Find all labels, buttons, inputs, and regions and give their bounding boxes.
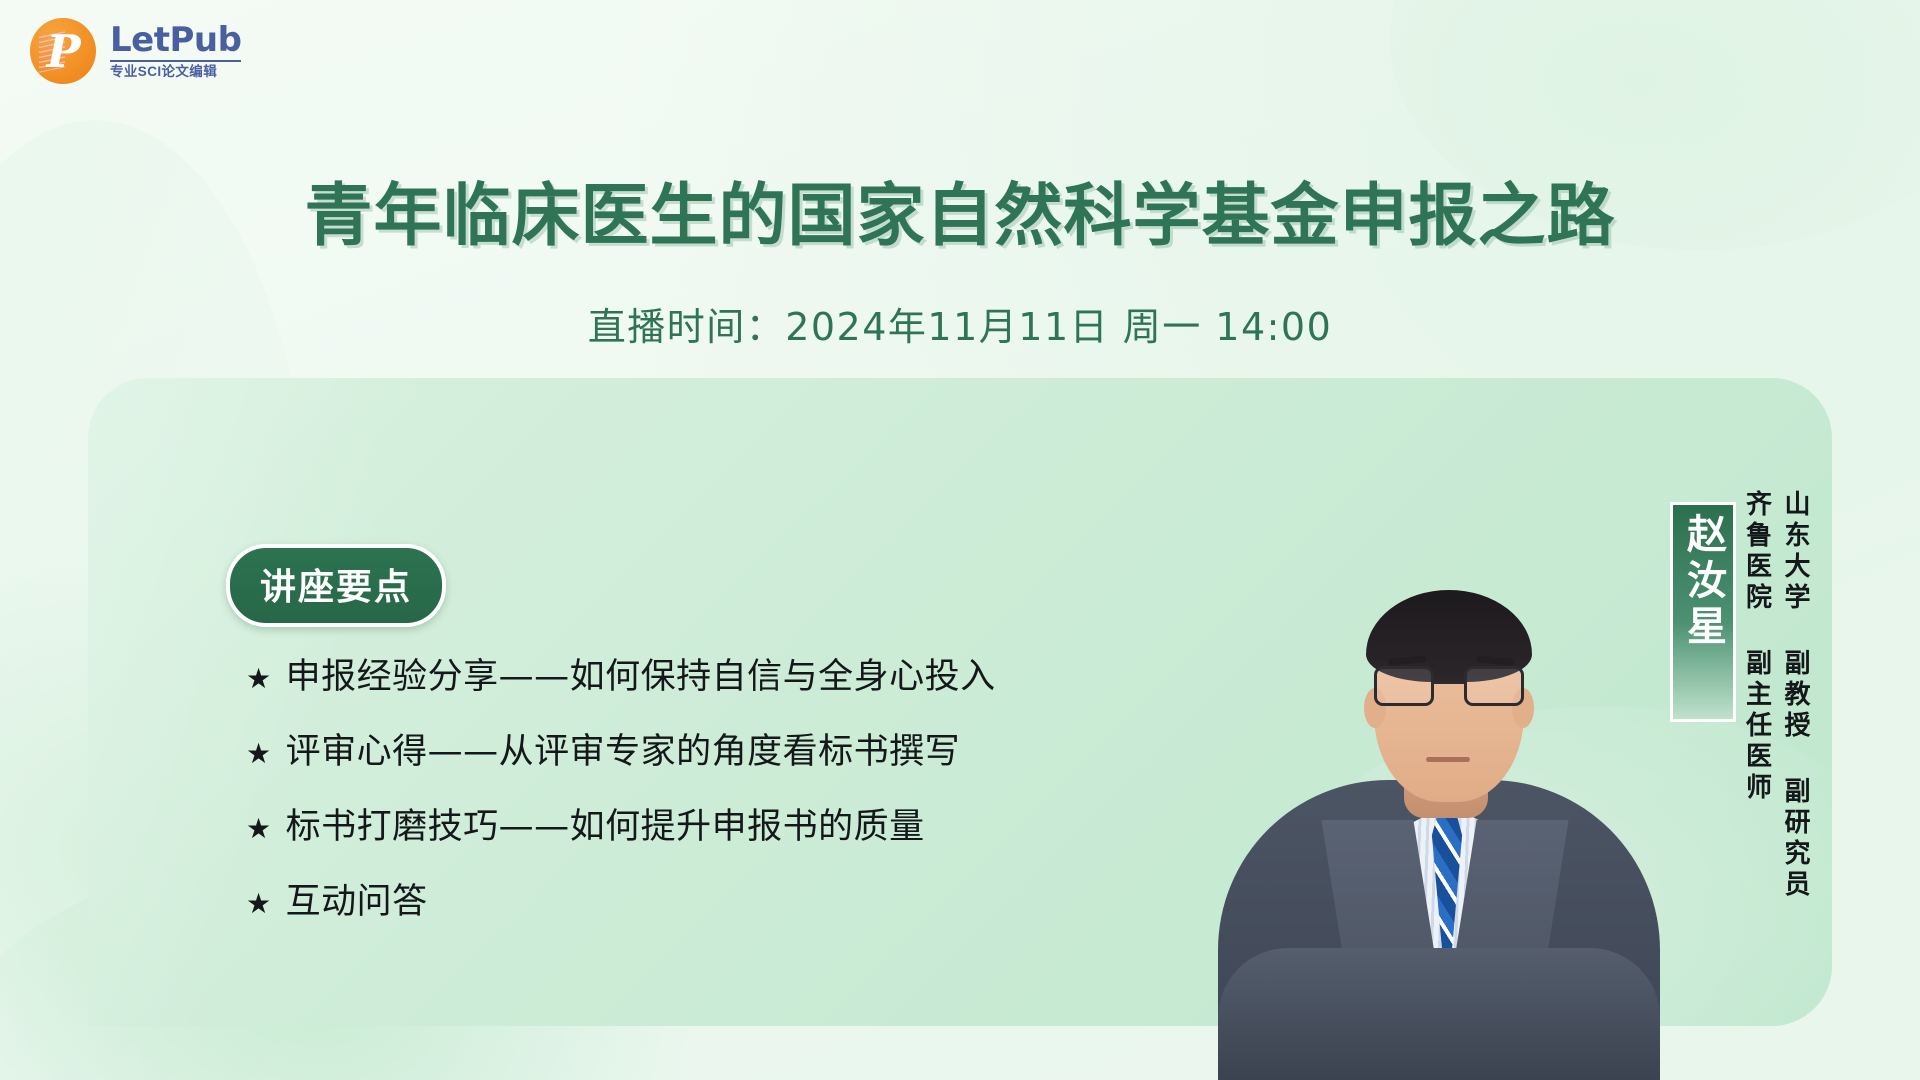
list-item: ★ 互动问答 [246, 873, 996, 924]
broadcast-time: 直播时间：2024年11月11日 周一 14:00 [0, 296, 1920, 351]
letpub-logo-mark-icon: P [30, 18, 96, 84]
key-points-badge: 讲座要点 [226, 544, 446, 627]
portrait-mouth [1426, 757, 1470, 762]
eyeglass-lens-right [1464, 666, 1524, 706]
list-item-label: 标书打磨技巧——如何提升申报书的质量 [286, 798, 925, 849]
speaker-name: 赵汝星 [1674, 513, 1732, 651]
logo-letter-p: P [30, 18, 96, 84]
portrait-crossed-arms [1218, 948, 1660, 1080]
portrait-eyeglasses [1370, 666, 1528, 708]
speaker-block: 赵汝星 山东大学 副教授 副研究员 齐鲁医院 副主任医师 [1132, 432, 1872, 1080]
list-item-label: 评审心得——从评审专家的角度看标书撰写 [286, 723, 961, 774]
eyeglass-bridge [1434, 681, 1464, 684]
speaker-credentials-primary: 山东大学 副教授 副研究员 [1779, 490, 1812, 910]
eyeglass-lens-left [1374, 666, 1434, 706]
list-item: ★ 申报经验分享——如何保持自信与全身心投入 [246, 648, 996, 699]
list-item: ★ 标书打磨技巧——如何提升申报书的质量 [246, 798, 996, 849]
star-icon: ★ [246, 665, 272, 693]
speaker-portrait [1224, 470, 1654, 1080]
star-icon: ★ [246, 815, 272, 843]
brand-name: LetPub [110, 23, 241, 57]
speaker-credentials: 山东大学 副教授 副研究员 齐鲁医院 副主任医师 [1740, 490, 1811, 910]
list-item: ★ 评审心得——从评审专家的角度看标书撰写 [246, 723, 996, 774]
speaker-nameplate: 赵汝星 [1670, 502, 1736, 722]
page-title: 青年临床医生的国家自然科学基金申报之路 [0, 160, 1920, 259]
speaker-credentials-secondary: 齐鲁医院 副主任医师 [1740, 490, 1773, 910]
key-points-list: ★ 申报经验分享——如何保持自信与全身心投入 ★ 评审心得——从评审专家的角度看… [246, 648, 996, 924]
list-item-label: 互动问答 [286, 873, 428, 924]
letpub-logo[interactable]: P LetPub 专业SCI论文编辑 [30, 18, 241, 84]
brand-tagline: 专业SCI论文编辑 [110, 60, 241, 79]
star-icon: ★ [246, 890, 272, 918]
star-icon: ★ [246, 740, 272, 768]
list-item-label: 申报经验分享——如何保持自信与全身心投入 [286, 648, 996, 699]
letpub-logo-text: LetPub 专业SCI论文编辑 [110, 23, 241, 79]
